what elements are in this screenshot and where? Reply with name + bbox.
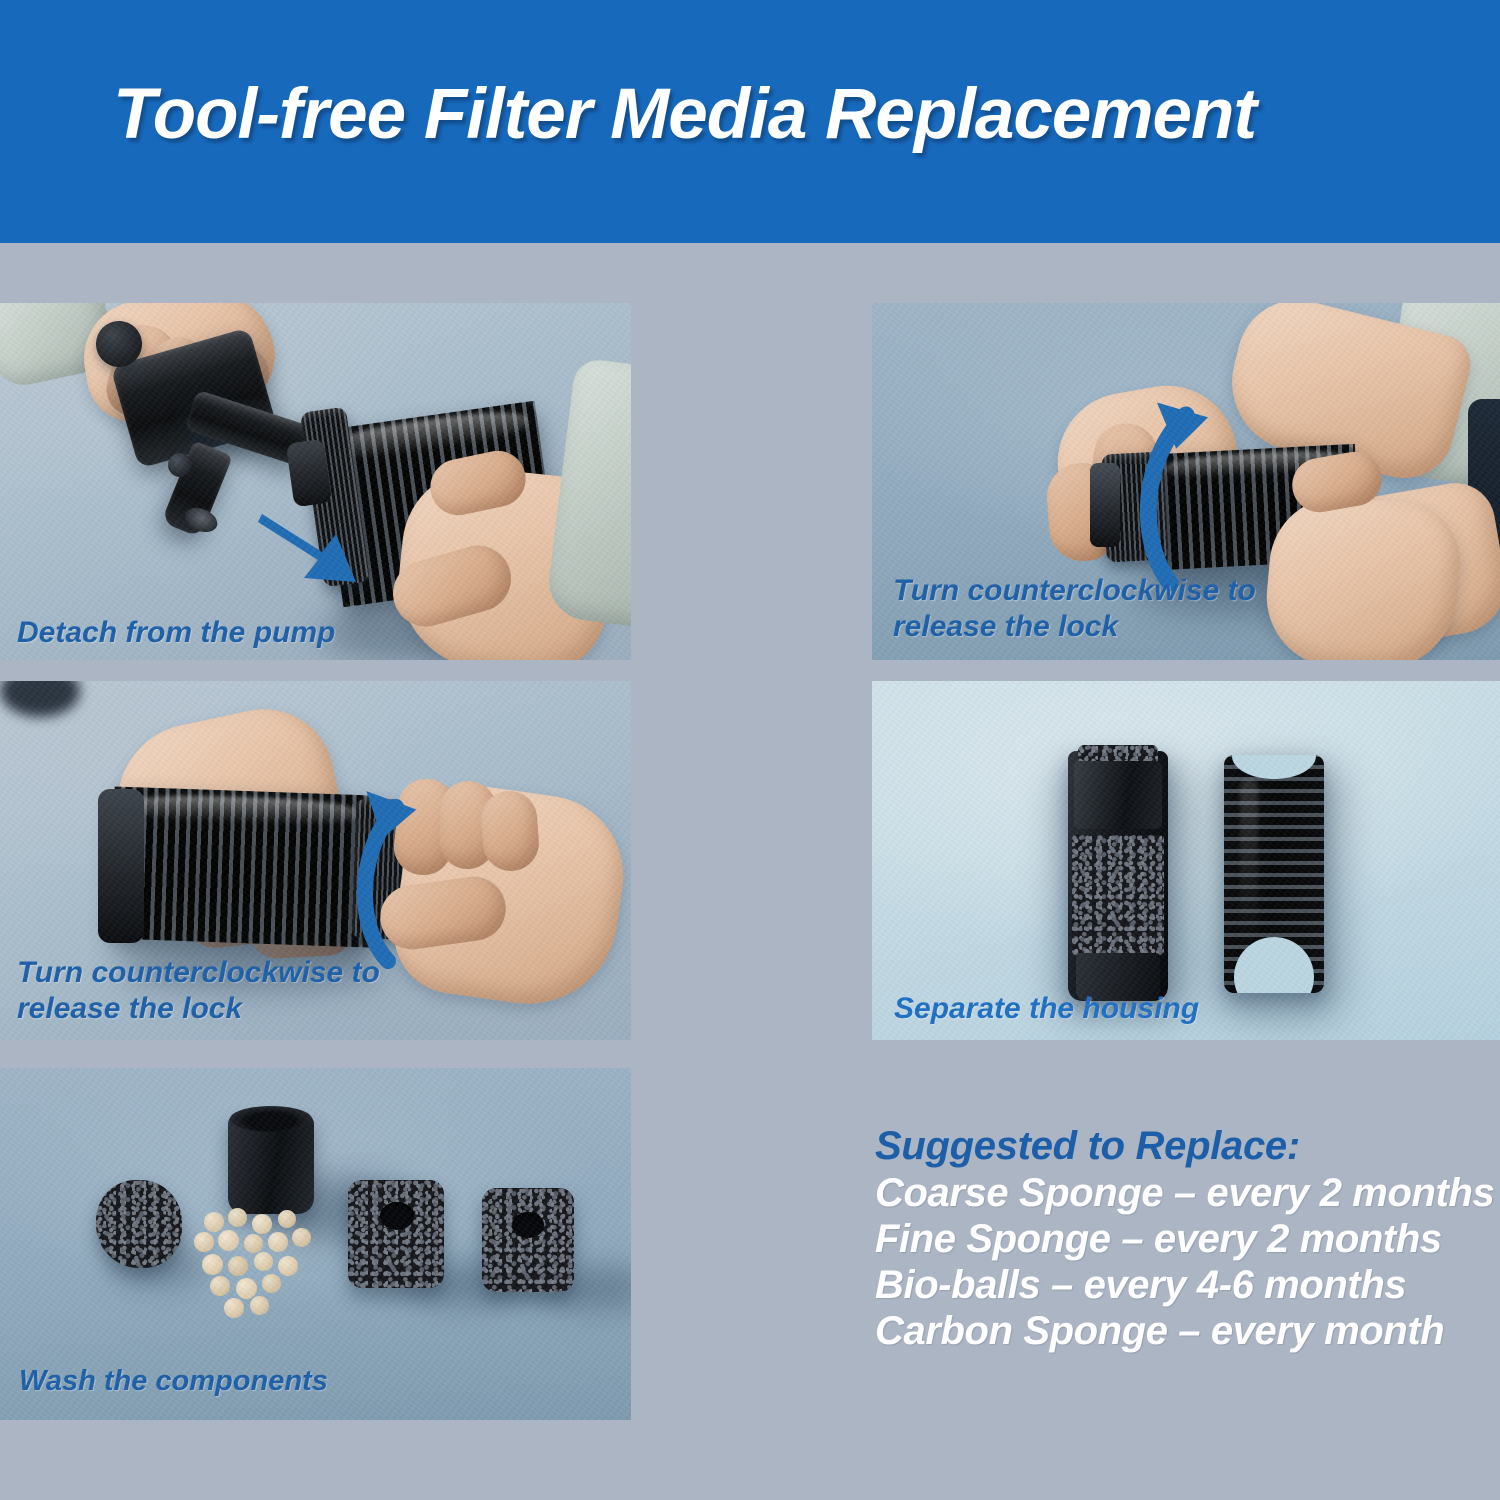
hand-lower — [1261, 491, 1465, 660]
replace-item-bio-balls: Bio-balls – every 4-6 months — [875, 1263, 1500, 1308]
replace-item-fine-sponge: Fine Sponge – every 2 months — [875, 1217, 1500, 1262]
replace-schedule-heading: Suggested to Replace: — [875, 1124, 1500, 1169]
housing-shell-highlight — [1240, 779, 1258, 949]
arrow-down-right-icon — [258, 508, 388, 588]
core-sponge-section — [1072, 835, 1164, 955]
panel-separate-housing: Separate the housing — [872, 681, 1500, 1040]
panel-turn-counterclockwise-top: Turn counterclockwise to release the loc… — [872, 303, 1500, 660]
filter-core — [1068, 751, 1168, 1001]
sponge-cylinder-1-hole — [380, 1202, 414, 1230]
photo-wash-components: Wash the components — [0, 1068, 631, 1420]
replace-item-carbon-sponge: Carbon Sponge – every month — [875, 1309, 1500, 1354]
open-finger-3 — [479, 789, 540, 873]
panel-wash-components: Wash the components — [0, 1068, 631, 1420]
caption-separate-housing: Separate the housing — [894, 991, 1199, 1026]
coarse-sponge-disc — [96, 1180, 182, 1268]
fine-sponge-cylinder-2 — [482, 1188, 574, 1292]
filter-cartridge-body-3 — [109, 787, 374, 948]
replace-item-coarse-sponge: Coarse Sponge – every 2 months — [875, 1171, 1500, 1216]
caption-turn-ccw-left: Turn counterclockwise to release the loc… — [17, 955, 380, 1026]
filter-cup — [228, 1114, 314, 1214]
arrow-counterclockwise-icon — [340, 779, 460, 969]
panel-detach-from-pump: Detach from the pump — [0, 303, 631, 660]
arrow-counterclockwise-icon — [1134, 391, 1264, 591]
cartridge-endcap-2 — [1090, 463, 1120, 547]
photo-turn-counterclockwise-top: Turn counterclockwise to release the loc… — [872, 303, 1500, 660]
panel-turn-counterclockwise-left: Turn counterclockwise to release the loc… — [0, 681, 631, 1040]
caption-turn-ccw-top: Turn counterclockwise to release the loc… — [893, 573, 1256, 644]
filter-cup-rim — [230, 1106, 312, 1132]
cartridge-left-endcap-3 — [98, 789, 144, 943]
page-title: Tool-free Filter Media Replacement — [113, 74, 1256, 155]
header-banner: Tool-free Filter Media Replacement — [0, 0, 1500, 243]
photo-turn-counterclockwise-left: Turn counterclockwise to release the loc… — [0, 681, 631, 1040]
sponge-cylinder-2-hole — [512, 1212, 544, 1238]
pump-knob — [96, 321, 142, 367]
background-blur-object — [0, 681, 80, 717]
caption-wash-components: Wash the components — [19, 1364, 328, 1398]
photo-detach-from-pump: Detach from the pump — [0, 303, 631, 660]
core-top-cylinder — [1074, 761, 1162, 829]
pump-screw — [168, 453, 192, 477]
bio-balls-pile — [194, 1208, 334, 1318]
caption-detach: Detach from the pump — [17, 615, 335, 650]
housing-shell — [1224, 755, 1324, 993]
carbon-sponge-cylinder-1 — [348, 1180, 444, 1288]
replace-schedule-block: Suggested to Replace: Coarse Sponge – ev… — [872, 1124, 1500, 1355]
photo-separate-housing: Separate the housing — [872, 681, 1500, 1040]
